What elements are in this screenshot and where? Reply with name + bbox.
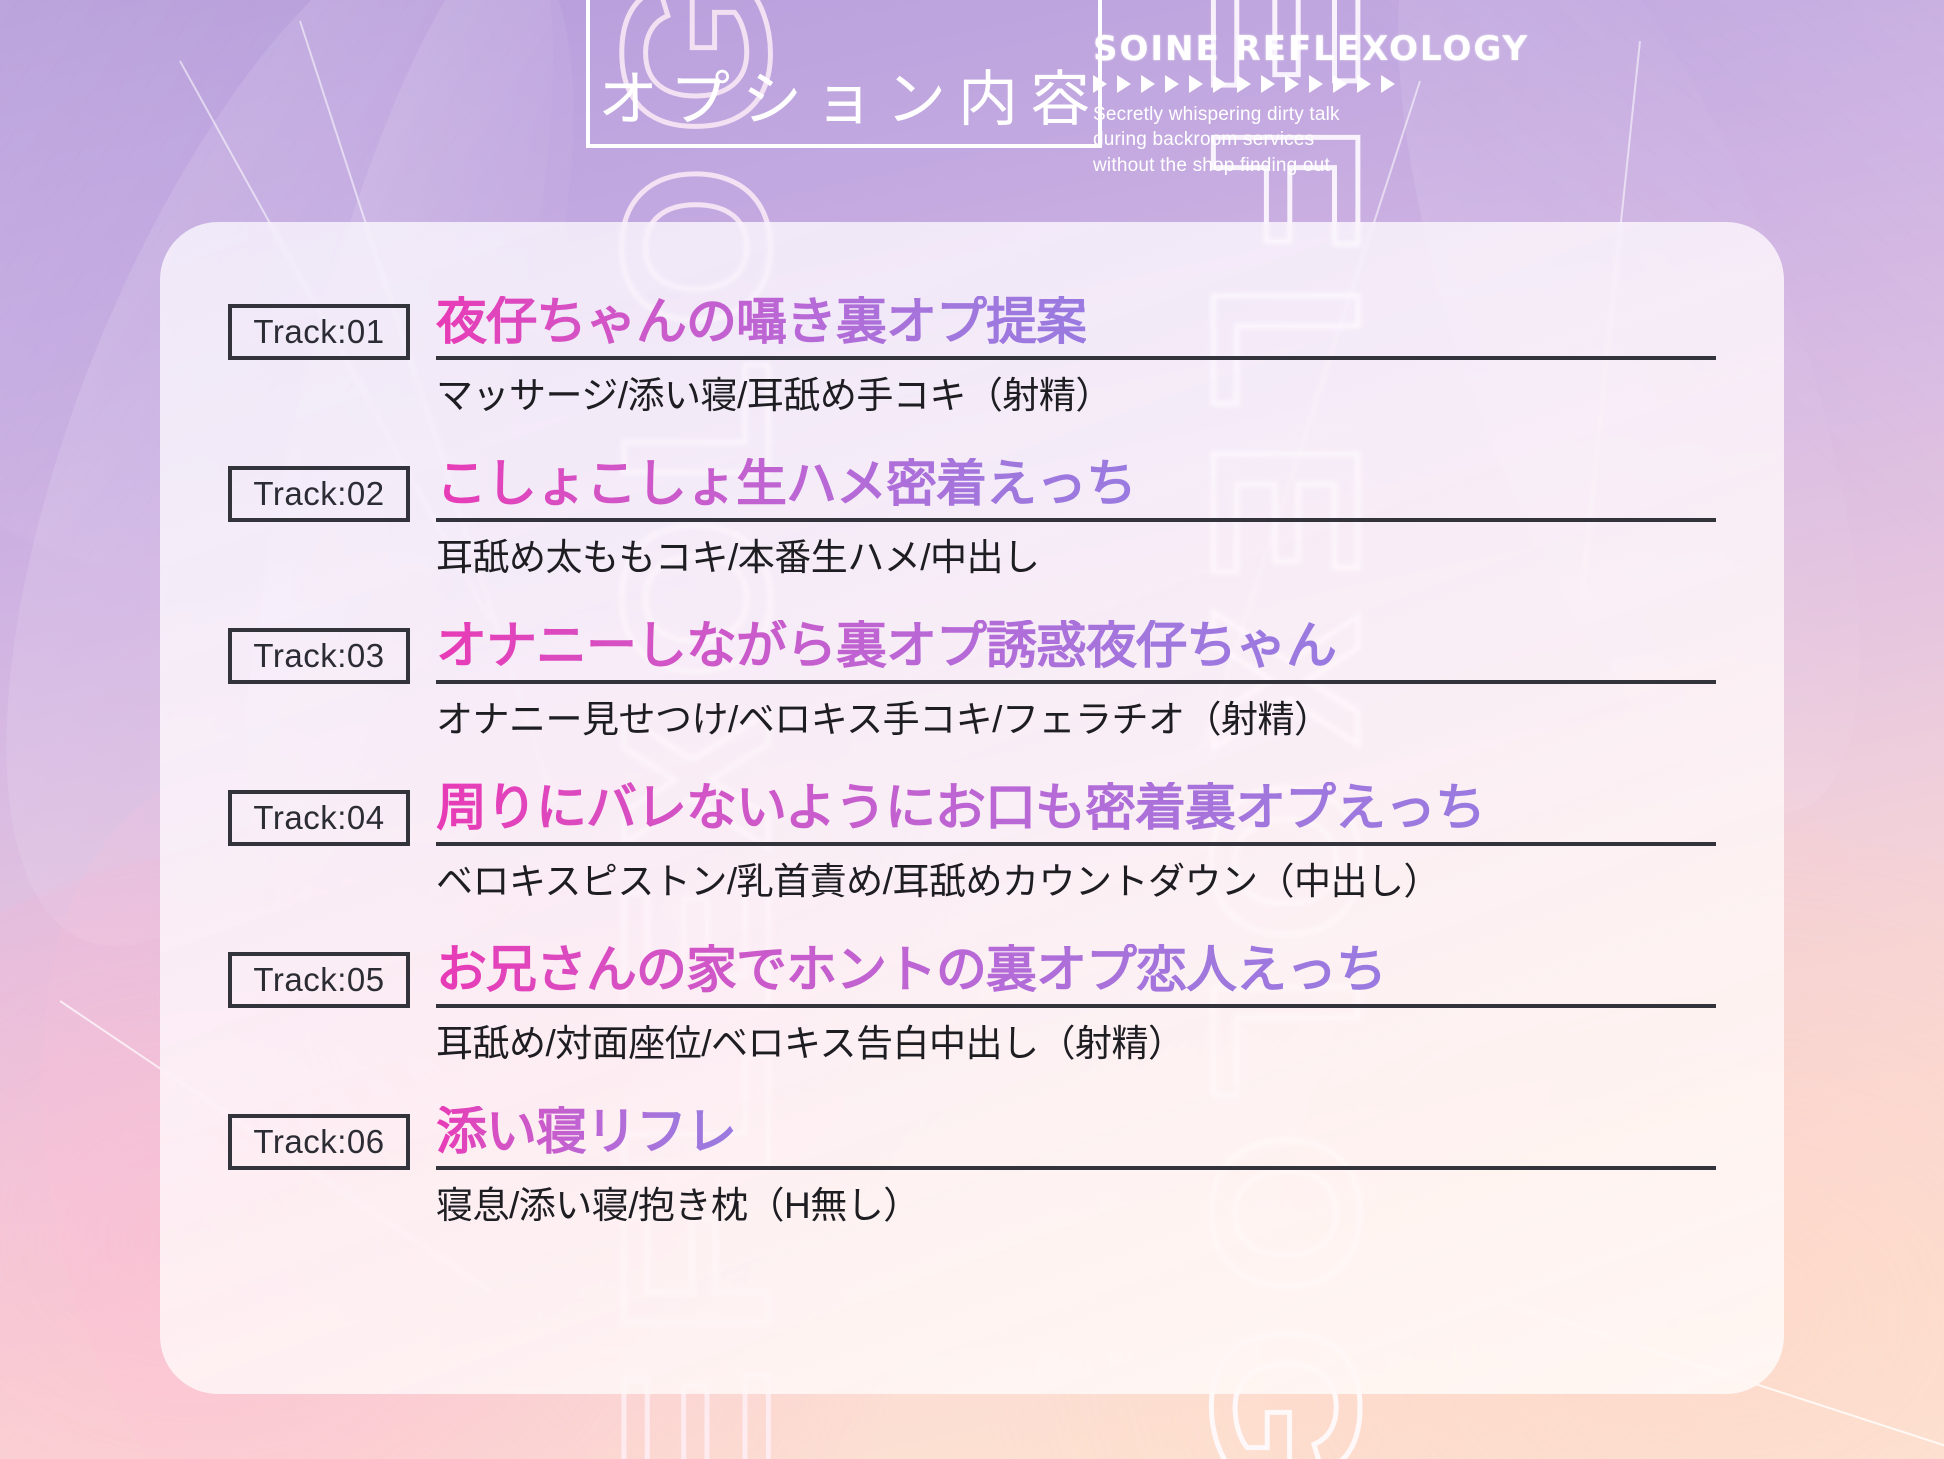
triangle-right-icon: [1357, 75, 1371, 93]
track-title: 添い寝リフレ: [436, 1106, 736, 1157]
track-head: Track:04 周りにバレないようにお口も密着裏オプえっち: [228, 748, 1716, 846]
track-subtitle: マッサージ/添い寝/耳舐め手コキ（射精）: [436, 377, 1716, 414]
track-number-badge: Track:03: [228, 628, 410, 684]
page-root: REFLEXOLOGY REFLEXOLOGY オプション内容 SOINE RE…: [0, 0, 1944, 1459]
track-head: Track:06 添い寝リフレ: [228, 1072, 1716, 1170]
brand-tagline: Secretly whispering dirty talk during ba…: [1093, 102, 1513, 178]
track-subtitle: 寝息/添い寝/抱き枕（H無し）: [436, 1187, 1716, 1224]
track-subtitle: オナニー見せつけ/ベロキス手コキ/フェラチオ（射精）: [436, 701, 1716, 738]
triangle-right-icon: [1093, 75, 1107, 93]
track-title-rule: 添い寝リフレ: [436, 1114, 1716, 1170]
page-title-frame: オプション内容: [586, 0, 1102, 148]
brand-arrow-row: [1093, 75, 1513, 93]
track-number-label: Track:03: [253, 639, 384, 672]
track-list-card: Track:01 夜仔ちゃんの囁き裏オプ提案 マッサージ/添い寝/耳舐め手コキ（…: [160, 222, 1784, 1394]
track-head: Track:05 お兄さんの家でホントの裏オプ恋人えっち: [228, 910, 1716, 1008]
brand-tagline-line-3: without the shop finding out: [1093, 153, 1513, 178]
brand-tagline-line-1: Secretly whispering dirty talk: [1093, 102, 1513, 127]
triangle-right-icon: [1261, 75, 1275, 93]
triangle-right-icon: [1141, 75, 1155, 93]
triangle-right-icon: [1213, 75, 1227, 93]
triangle-right-icon: [1285, 75, 1299, 93]
track-number-badge: Track:05: [228, 952, 410, 1008]
page-header: オプション内容 SOINE REFLEXOLOGY Secretly wh: [0, 0, 1944, 175]
track-row-6: Track:06 添い寝リフレ 寝息/添い寝/抱き枕（H無し）: [228, 1072, 1716, 1224]
track-number-label: Track:02: [253, 477, 384, 510]
track-number-badge: Track:04: [228, 790, 410, 846]
triangle-right-icon: [1165, 75, 1179, 93]
track-title-rule: お兄さんの家でホントの裏オプ恋人えっち: [436, 952, 1716, 1008]
track-number-label: Track:05: [253, 963, 384, 996]
track-title: こしょこしょ生ハメ密着えっち: [436, 458, 1136, 509]
triangle-right-icon: [1237, 75, 1251, 93]
track-title: お兄さんの家でホントの裏オプ恋人えっち: [436, 944, 1386, 995]
track-title-rule: オナニーしながら裏オプ誘惑夜仔ちゃん: [436, 628, 1716, 684]
track-subtitle: ベロキスピストン/乳首責め/耳舐めカウントダウン（中出し）: [436, 863, 1716, 900]
track-list: Track:01 夜仔ちゃんの囁き裏オプ提案 マッサージ/添い寝/耳舐め手コキ（…: [228, 262, 1716, 1224]
triangle-right-icon: [1381, 75, 1395, 93]
track-row-3: Track:03 オナニーしながら裏オプ誘惑夜仔ちゃん オナニー見せつけ/ベロキ…: [228, 586, 1716, 738]
page-title: オプション内容: [586, 70, 1102, 130]
track-number-badge: Track:02: [228, 466, 410, 522]
track-title-rule: 周りにバレないようにお口も密着裏オプえっち: [436, 790, 1716, 846]
triangle-right-icon: [1333, 75, 1347, 93]
triangle-right-icon: [1189, 75, 1203, 93]
track-head: Track:02 こしょこしょ生ハメ密着えっち: [228, 424, 1716, 522]
triangle-right-icon: [1117, 75, 1131, 93]
brand-tagline-line-2: during backroom services: [1093, 127, 1513, 152]
track-number-badge: Track:06: [228, 1114, 410, 1170]
track-number-label: Track:04: [253, 801, 384, 834]
track-number-label: Track:06: [253, 1125, 384, 1158]
track-title: 周りにバレないようにお口も密着裏オプえっち: [436, 782, 1485, 833]
track-title-rule: こしょこしょ生ハメ密着えっち: [436, 466, 1716, 522]
track-row-1: Track:01 夜仔ちゃんの囁き裏オプ提案 マッサージ/添い寝/耳舐め手コキ（…: [228, 262, 1716, 414]
triangle-right-icon: [1309, 75, 1323, 93]
track-row-4: Track:04 周りにバレないようにお口も密着裏オプえっち ベロキスピストン/…: [228, 748, 1716, 900]
track-row-2: Track:02 こしょこしょ生ハメ密着えっち 耳舐め太ももコキ/本番生ハメ/中…: [228, 424, 1716, 576]
track-number-badge: Track:01: [228, 304, 410, 360]
track-subtitle: 耳舐め太ももコキ/本番生ハメ/中出し: [436, 539, 1716, 576]
track-title-rule: 夜仔ちゃんの囁き裏オプ提案: [436, 304, 1716, 360]
track-head: Track:01 夜仔ちゃんの囁き裏オプ提案: [228, 262, 1716, 360]
track-subtitle: 耳舐め/対面座位/ベロキス告白中出し（射精）: [436, 1025, 1716, 1062]
track-number-label: Track:01: [253, 315, 384, 348]
track-title: オナニーしながら裏オプ誘惑夜仔ちゃん: [436, 620, 1336, 671]
track-title: 夜仔ちゃんの囁き裏オプ提案: [436, 296, 1086, 347]
brand-block: SOINE REFLEXOLOGY Secretly whispering di…: [1093, 32, 1513, 178]
track-row-5: Track:05 お兄さんの家でホントの裏オプ恋人えっち 耳舐め/対面座位/ベロ…: [228, 910, 1716, 1062]
brand-name: SOINE REFLEXOLOGY: [1093, 32, 1513, 66]
track-head: Track:03 オナニーしながら裏オプ誘惑夜仔ちゃん: [228, 586, 1716, 684]
